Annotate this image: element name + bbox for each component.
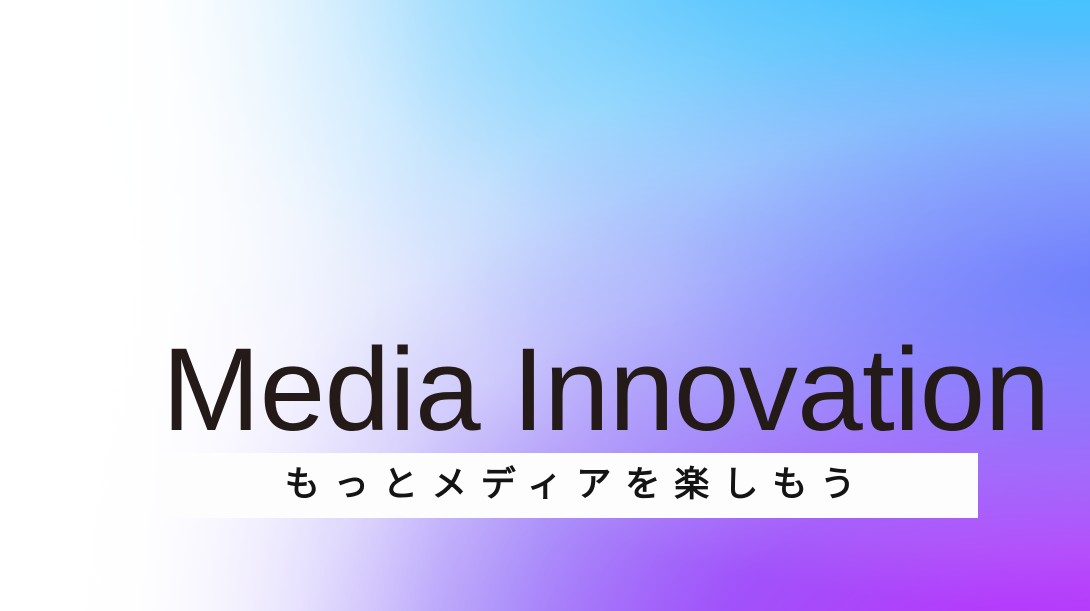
title-line-1: Media Innovation (162, 328, 1050, 452)
subtitle-text: もっとメディアを楽しもう (271, 468, 870, 503)
subtitle-band: もっとメディアを楽しもう (162, 453, 978, 518)
poster-canvas: Media Innovation Conference 2026 もっとメディア… (0, 0, 1090, 611)
page-title: Media Innovation Conference 2026 (162, 79, 1050, 611)
poster-content: Media Innovation Conference 2026 もっとメディア… (0, 0, 1090, 611)
